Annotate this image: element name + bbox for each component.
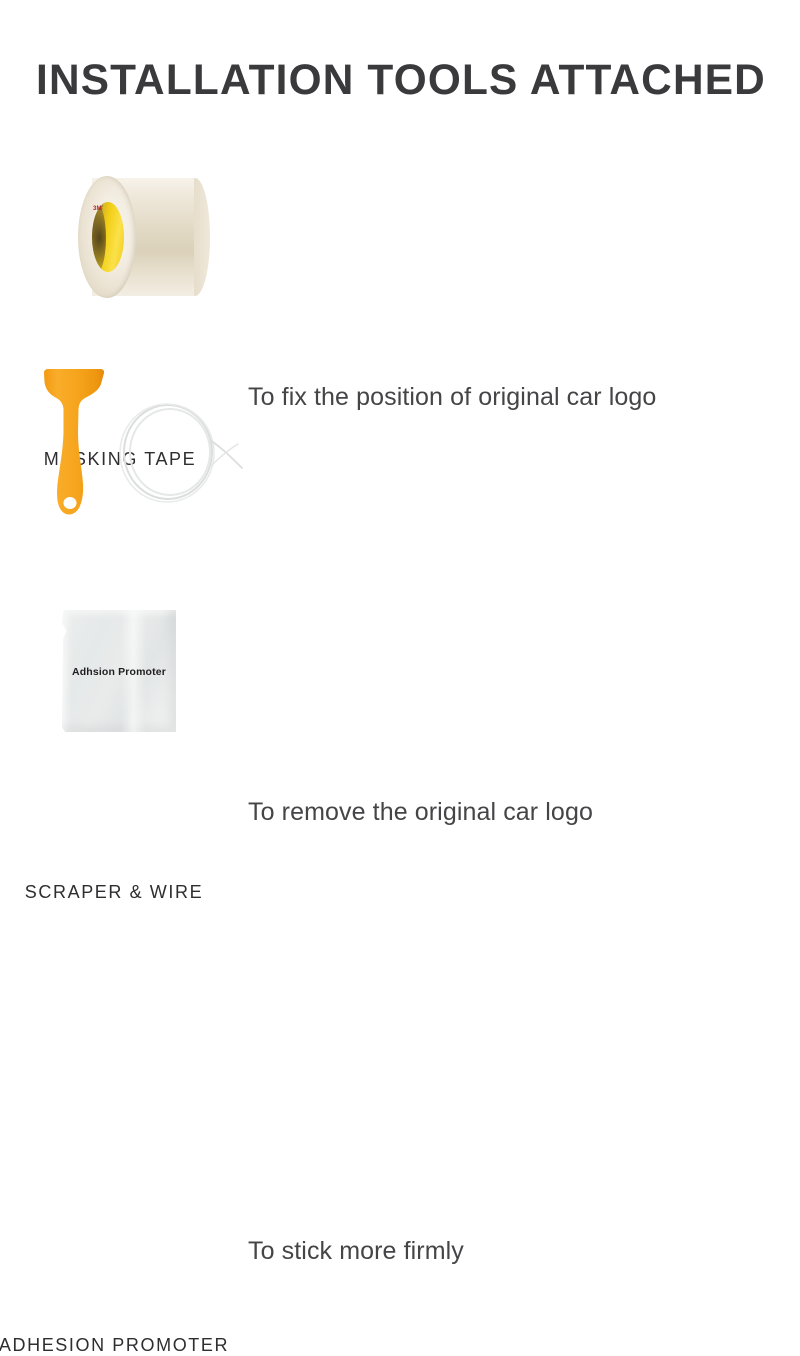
adhesion-promoter-caption: ADHESION PROMOTER bbox=[0, 1335, 234, 1356]
scraper-wire-visual bbox=[0, 358, 240, 558]
cutting-wire-icon bbox=[118, 400, 244, 504]
page-title: INSTALLATION TOOLS ATTACHED bbox=[36, 54, 765, 106]
scraper-icon bbox=[38, 368, 110, 516]
scraper-wire-caption: SCRAPER & WIRE bbox=[0, 882, 234, 903]
adhesion-promoter-sachet-icon: Adhsion Promoter bbox=[62, 610, 176, 732]
tool-row: SCRAPER & WIRE To remove the original ca… bbox=[0, 358, 800, 558]
adhesion-promoter-visual: Adhsion Promoter bbox=[0, 592, 240, 772]
tape-inner-core: Scotch 232 bbox=[92, 202, 124, 272]
adhesion-promoter-description: To stick more firmly bbox=[248, 1237, 464, 1266]
tool-row: Scotch 232 3M MASKING TAPE To fix the po… bbox=[0, 150, 800, 340]
tape-brand-mark: 3M bbox=[93, 206, 102, 212]
tool-row: Adhsion Promoter ADHESION PROMOTER To st… bbox=[0, 592, 800, 772]
scraper-wire-description: To remove the original car logo bbox=[248, 798, 593, 827]
tape-near-face: Scotch 232 3M bbox=[78, 176, 136, 298]
sachet-printed-label: Adhsion Promoter bbox=[62, 666, 176, 678]
masking-tape-visual: Scotch 232 3M bbox=[0, 150, 240, 340]
masking-tape-roll-icon: Scotch 232 3M bbox=[78, 176, 210, 298]
